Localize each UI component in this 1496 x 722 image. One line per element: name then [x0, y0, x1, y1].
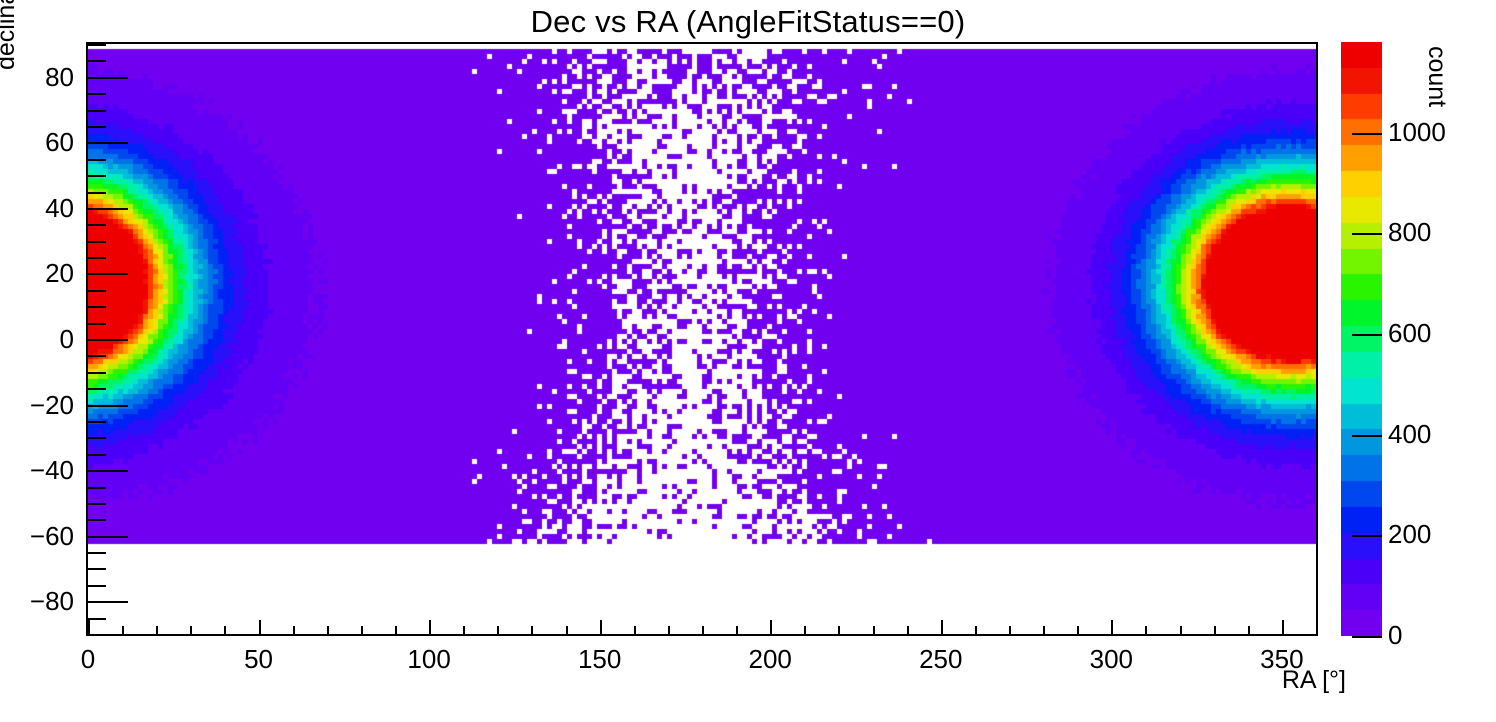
x-tick-label: 50 [209, 646, 309, 672]
y-tick [88, 552, 106, 554]
colorbar-tick [1352, 636, 1382, 638]
y-tick [88, 405, 128, 407]
y-tick [88, 306, 106, 308]
x-tick [429, 620, 431, 634]
colorbar-tick [1352, 535, 1382, 537]
x-tick [327, 626, 329, 634]
x-tick [1145, 626, 1147, 634]
colorbar-tick [1352, 334, 1382, 336]
x-tick-label: 250 [891, 646, 991, 672]
colorbar-tick-label: 400 [1388, 421, 1431, 447]
y-tick-label: −20 [0, 392, 74, 418]
x-tick [1111, 620, 1113, 634]
colorbar-tick-label: 600 [1388, 320, 1431, 346]
y-tick [88, 585, 106, 587]
x-tick [804, 626, 806, 634]
colorbar-tick [1352, 233, 1382, 235]
y-tick [88, 503, 106, 505]
colorbar [1341, 42, 1382, 636]
y-tick [88, 44, 106, 46]
y-tick [88, 208, 128, 210]
x-tick [941, 620, 943, 634]
y-tick [88, 290, 106, 292]
x-tick-label: 200 [720, 646, 820, 672]
x-tick [156, 626, 158, 634]
plot-frame [86, 42, 1318, 636]
y-tick [88, 60, 106, 62]
x-tick [497, 626, 499, 634]
x-tick [1282, 620, 1284, 634]
x-tick [1316, 626, 1318, 634]
y-tick [88, 126, 106, 128]
x-tick [293, 626, 295, 634]
x-tick-label: 150 [550, 646, 650, 672]
y-axis-title: declination [°] [0, 0, 19, 70]
x-tick [88, 620, 90, 634]
y-tick-label: −40 [0, 457, 74, 483]
y-tick [88, 93, 106, 95]
y-tick [88, 372, 106, 374]
x-tick [873, 626, 875, 634]
x-tick [1077, 626, 1079, 634]
x-axis-title: RA [°] [1282, 668, 1346, 693]
x-tick [361, 626, 363, 634]
y-tick-label: 20 [0, 260, 74, 286]
y-tick [88, 601, 128, 603]
heatmap-canvas [88, 44, 1316, 634]
y-tick [88, 175, 106, 177]
y-tick [88, 339, 128, 341]
y-tick [88, 355, 106, 357]
y-tick [88, 634, 106, 636]
x-tick [1043, 626, 1045, 634]
y-tick [88, 110, 106, 112]
y-tick [88, 192, 106, 194]
x-tick [668, 626, 670, 634]
x-tick [770, 620, 772, 634]
colorbar-tick-label: 0 [1388, 622, 1402, 648]
x-tick [224, 626, 226, 634]
colorbar-tick [1352, 435, 1382, 437]
y-tick [88, 77, 128, 79]
page-title: Dec vs RA (AngleFitStatus==0) [0, 2, 1496, 42]
colorbar-title: count [1424, 46, 1449, 246]
x-tick [190, 626, 192, 634]
y-tick [88, 421, 106, 423]
y-tick [88, 273, 128, 275]
x-tick [1248, 626, 1250, 634]
x-tick [975, 626, 977, 634]
x-tick [259, 620, 261, 634]
y-tick [88, 142, 128, 144]
x-tick [463, 626, 465, 634]
x-tick [1214, 626, 1216, 634]
y-tick [88, 487, 106, 489]
x-tick [1009, 626, 1011, 634]
x-tick-label: 100 [379, 646, 479, 672]
x-tick [531, 626, 533, 634]
y-tick [88, 323, 106, 325]
x-tick-label: 0 [38, 646, 138, 672]
y-tick [88, 388, 106, 390]
x-tick [907, 626, 909, 634]
y-tick-label: −80 [0, 588, 74, 614]
x-tick [395, 626, 397, 634]
y-tick [88, 568, 106, 570]
y-tick [88, 470, 128, 472]
chart-page: Dec vs RA (AngleFitStatus==0) −80−60−40−… [0, 0, 1496, 722]
x-tick [600, 620, 602, 634]
y-tick-label: 0 [0, 326, 74, 352]
x-tick-label: 300 [1061, 646, 1161, 672]
x-tick [122, 626, 124, 634]
y-tick [88, 454, 106, 456]
x-tick [634, 626, 636, 634]
x-tick [736, 626, 738, 634]
y-tick [88, 618, 106, 620]
y-tick-label: −60 [0, 523, 74, 549]
y-tick [88, 241, 106, 243]
y-tick-label: 40 [0, 195, 74, 221]
x-tick [1180, 626, 1182, 634]
y-tick [88, 519, 106, 521]
colorbar-tick-label: 200 [1388, 521, 1431, 547]
x-tick [838, 626, 840, 634]
x-tick [566, 626, 568, 634]
y-tick [88, 159, 106, 161]
y-tick-label: 60 [0, 129, 74, 155]
colorbar-tick [1352, 133, 1382, 135]
y-tick [88, 437, 106, 439]
colorbar-gradient [1341, 42, 1382, 636]
y-tick [88, 224, 106, 226]
y-tick [88, 536, 128, 538]
x-tick [702, 626, 704, 634]
y-tick [88, 257, 106, 259]
